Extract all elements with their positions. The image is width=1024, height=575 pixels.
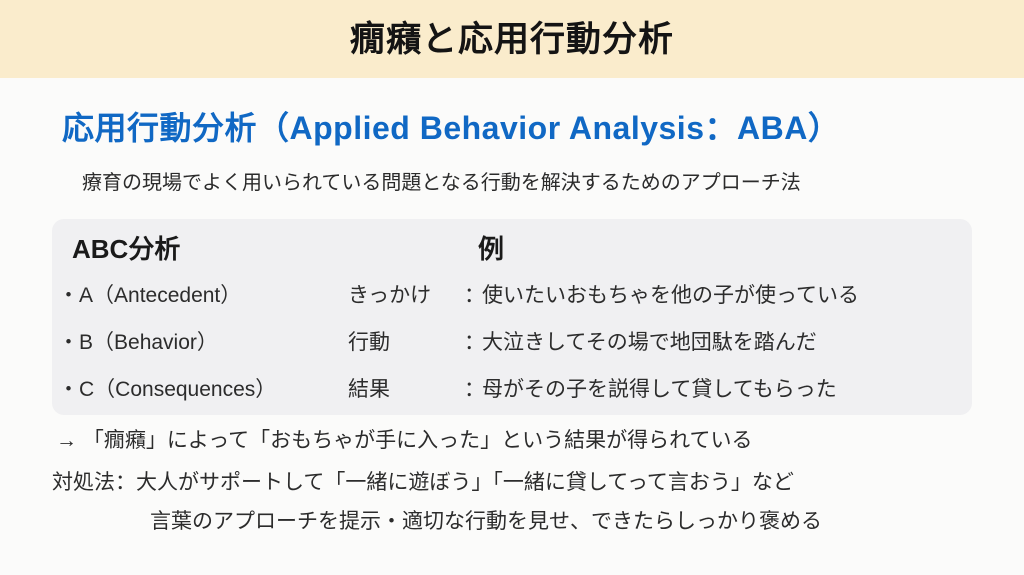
abc-example: 使いたいおもちゃを他の子が使っている [482, 279, 859, 309]
abc-term: ・B（Behavior） [58, 326, 348, 356]
page-title: 癇癪と応用行動分析 [350, 22, 674, 57]
abc-jp-label: きっかけ [348, 279, 466, 309]
abc-example: 大泣きしてその場で地団駄を踏んだ [482, 326, 817, 356]
table-row: ・A（Antecedent） きっかけ ： 使いたいおもちゃを他の子が使っている [52, 271, 972, 318]
abc-row-list: ・A（Antecedent） きっかけ ： 使いたいおもちゃを他の子が使っている… [52, 271, 972, 412]
table-row: ・B（Behavior） 行動 ： 大泣きしてその場で地団駄を踏んだ [52, 318, 972, 365]
section-heading: 応用行動分析（Applied Behavior Analysis：ABA） [62, 103, 840, 149]
abc-card-header: ABC分析 例 [52, 219, 972, 271]
coping-line-primary: 対処法：大人がサポートして「一緒に遊ぼう」「一緒に貸してって言おう」など [52, 466, 794, 496]
coping-line-secondary: 言葉のアプローチを提示・適切な行動を見せ、できたらしっかり褒める [150, 505, 822, 535]
abc-jp-label: 行動 [348, 326, 466, 356]
abc-jp-label: 結果 [348, 373, 466, 403]
example-header-label: 例 [478, 229, 504, 266]
abc-term: ・C（Consequences） [58, 373, 348, 403]
slide-title-band: 癇癪と応用行動分析 [0, 0, 1024, 78]
abc-analysis-card: ABC分析 例 ・A（Antecedent） きっかけ ： 使いたいおもちゃを他… [52, 219, 972, 415]
abc-term: ・A（Antecedent） [58, 279, 348, 309]
section-lead-note: 療育の現場でよく用いられている問題となる行動を解決するためのアプローチ法 [82, 166, 801, 195]
table-row: ・C（Consequences） 結果 ： 母がその子を説得して貸してもらった [52, 365, 972, 412]
abc-header-label: ABC分析 [72, 229, 180, 266]
result-line: → 「癇癪」によって「おもちゃが手に入った」という結果が得られている [56, 424, 753, 454]
abc-example: 母がその子を説得して貸してもらった [482, 373, 837, 403]
